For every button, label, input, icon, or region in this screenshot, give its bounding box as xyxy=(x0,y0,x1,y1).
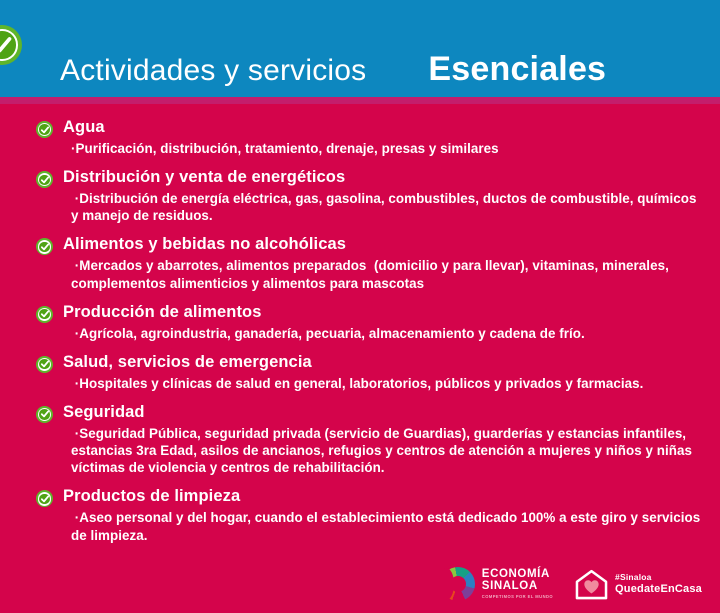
list-item: Agua ·Purificación, distribución, tratam… xyxy=(36,118,702,157)
footer-logos: ECONOMÍA SINALOA COMPETIMOS POR EL MUNDO… xyxy=(441,567,702,601)
section-description: ·Aseo personal y del hogar, cuando el es… xyxy=(63,509,702,543)
header-banner: Actividades y servicios Esenciales xyxy=(0,0,720,97)
check-badge-icon xyxy=(36,356,53,373)
list-item-body: Productos de limpieza ·Aseo personal y d… xyxy=(63,487,702,543)
quedate-line2: QuedateEnCasa xyxy=(615,583,702,595)
quedate-en-casa-logo: #Sinaloa QuedateEnCasa xyxy=(575,569,702,600)
section-title: Agua xyxy=(63,118,702,137)
list-item-body: Distribución y venta de energéticos ·Dis… xyxy=(63,168,702,224)
list-item: Salud, servicios de emergencia ·Hospital… xyxy=(36,353,702,392)
list-item: Producción de alimentos ·Agrícola, agroi… xyxy=(36,303,702,342)
economia-tagline: COMPETIMOS POR EL MUNDO xyxy=(482,595,553,599)
section-title: Producción de alimentos xyxy=(63,303,702,322)
infographic-poster: Actividades y servicios Esenciales Agua … xyxy=(0,0,720,613)
section-title: Salud, servicios de emergencia xyxy=(63,353,702,372)
header-title-group: Actividades y servicios Esenciales xyxy=(0,50,720,89)
section-description: ·Hospitales y clínicas de salud en gener… xyxy=(63,375,702,392)
house-heart-icon xyxy=(575,569,608,600)
list-item: Alimentos y bebidas no alcohólicas ·Merc… xyxy=(36,235,702,291)
page-title-emphasis: Esenciales xyxy=(428,50,606,89)
check-badge-icon xyxy=(36,306,53,323)
header-divider xyxy=(0,97,720,104)
list-item: Distribución y venta de energéticos ·Dis… xyxy=(36,168,702,224)
section-title: Seguridad xyxy=(63,403,702,422)
list-item: Seguridad ·Seguridad Pública, seguridad … xyxy=(36,403,702,476)
check-badge-icon xyxy=(36,171,53,188)
list-item-body: Salud, servicios de emergencia ·Hospital… xyxy=(63,353,702,392)
economia-sinaloa-swirl-icon xyxy=(441,567,475,601)
section-description: ·Agrícola, agroindustria, ganadería, pec… xyxy=(63,325,702,342)
list-item-body: Producción de alimentos ·Agrícola, agroi… xyxy=(63,303,702,342)
list-item-body: Alimentos y bebidas no alcohólicas ·Merc… xyxy=(63,235,702,291)
economia-sinaloa-logo: ECONOMÍA SINALOA COMPETIMOS POR EL MUNDO xyxy=(441,567,553,601)
check-badge-icon xyxy=(36,121,53,138)
section-description: ·Purificación, distribución, tratamiento… xyxy=(63,140,702,157)
quedate-wordmark: #Sinaloa QuedateEnCasa xyxy=(615,573,702,594)
list-item-body: Seguridad ·Seguridad Pública, seguridad … xyxy=(63,403,702,476)
economia-sinaloa-wordmark: ECONOMÍA SINALOA COMPETIMOS POR EL MUNDO xyxy=(482,569,553,599)
section-description: ·Distribución de energía eléctrica, gas,… xyxy=(63,190,702,224)
check-badge-icon xyxy=(36,406,53,423)
list-item: Productos de limpieza ·Aseo personal y d… xyxy=(36,487,702,543)
list-item-body: Agua ·Purificación, distribución, tratam… xyxy=(63,118,702,157)
section-title: Distribución y venta de energéticos xyxy=(63,168,702,187)
section-title: Productos de limpieza xyxy=(63,487,702,506)
quedate-line1: #Sinaloa xyxy=(615,573,702,582)
section-description: ·Seguridad Pública, seguridad privada (s… xyxy=(63,425,702,476)
check-badge-icon xyxy=(36,238,53,255)
check-badge-icon xyxy=(36,490,53,507)
sections-list: Agua ·Purificación, distribución, tratam… xyxy=(0,104,720,544)
section-description: ·Mercados y abarrotes, alimentos prepara… xyxy=(63,257,702,291)
economia-line2: SINALOA xyxy=(482,581,553,593)
section-title: Alimentos y bebidas no alcohólicas xyxy=(63,235,702,254)
page-title: Actividades y servicios xyxy=(60,54,366,88)
